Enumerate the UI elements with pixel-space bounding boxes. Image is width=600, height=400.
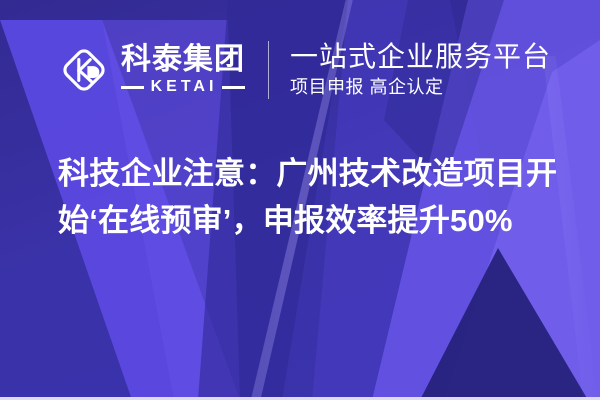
right-dash-icon [222,86,245,89]
tagline-block: 一站式企业服务平台 项目申报 高企认定 [290,41,551,99]
brand-name-cn: 科泰集团 [121,45,245,75]
promo-banner: 科泰集团 KETAI 一站式企业服务平台 项目申报 高企认定 科技企业注意：广州… [0,0,600,400]
ketai-diamond-kp-monogram-icon [58,44,110,96]
brand-logo[interactable]: 科泰集团 KETAI [58,44,245,96]
brand-name-en-row: KETAI [121,79,245,95]
tagline-main: 一站式企业服务平台 [290,41,551,72]
brand-wordmark: 科泰集团 KETAI [121,45,245,95]
banner-header: 科泰集团 KETAI 一站式企业服务平台 项目申报 高企认定 [0,0,600,140]
headline-text: 科技企业注意：广州技术改造项目开始‘在线预审’，申报效率提升50% [58,150,558,244]
tagline-sub: 项目申报 高企认定 [290,77,551,99]
brand-name-en: KETAI [149,79,218,95]
left-dash-icon [121,86,144,89]
vertical-divider-icon [268,41,269,99]
